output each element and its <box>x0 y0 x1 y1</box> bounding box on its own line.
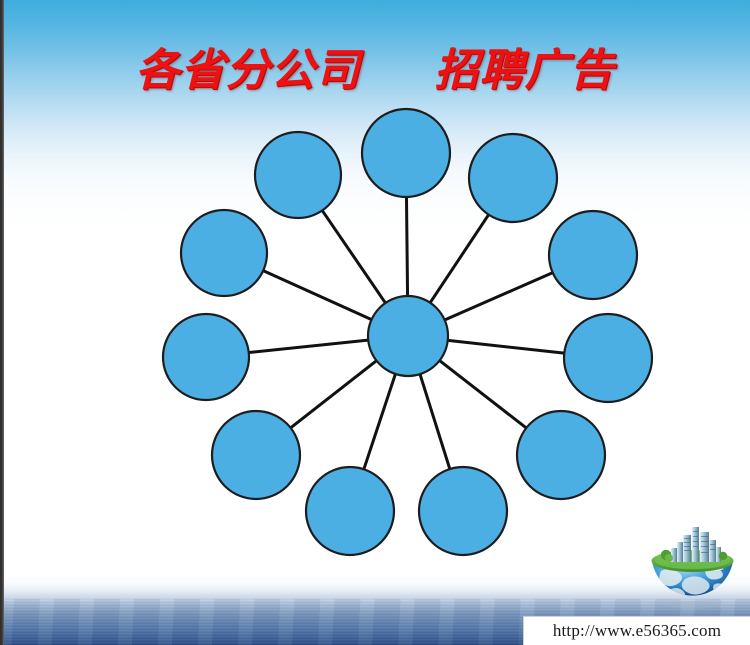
node-circle-8[interactable] <box>212 411 300 499</box>
page-title: 各省分公司招聘广告 <box>0 34 750 98</box>
spoke-line-n2 <box>322 210 386 304</box>
spoke-line-n9 <box>439 360 527 429</box>
node-circle-5[interactable] <box>549 211 637 299</box>
node-circle-6[interactable] <box>163 314 249 400</box>
hub-circle[interactable] <box>368 296 448 376</box>
node-circle-9[interactable] <box>517 411 605 499</box>
spoke-line-n1 <box>406 196 407 297</box>
globe-shadow <box>667 601 719 609</box>
spoke-line-n7 <box>447 340 565 353</box>
spoke-line-n4 <box>262 270 372 320</box>
title-right-text: 招聘广告 <box>435 34 615 98</box>
spoke-line-n11 <box>420 373 450 470</box>
node-circle-layer <box>163 109 652 555</box>
node-circle-7[interactable] <box>564 314 652 402</box>
earth-globe-city-logo <box>645 521 740 618</box>
node-circle-4[interactable] <box>181 210 267 296</box>
globe-city-buildings <box>671 527 721 562</box>
spoke-line-n10 <box>364 373 396 470</box>
spoke-line-n5 <box>444 272 554 320</box>
watermark-url-text: http://www.e56365.com <box>553 621 721 641</box>
node-circle-2[interactable] <box>255 132 341 218</box>
node-circle-1[interactable] <box>362 109 450 197</box>
node-circle-10[interactable] <box>306 467 394 555</box>
node-circle-3[interactable] <box>469 134 557 222</box>
slide-canvas: 各省分公司招聘广告 <box>0 0 750 645</box>
watermark-url-bar: http://www.e56365.com <box>523 616 750 645</box>
node-circle-11[interactable] <box>419 467 507 555</box>
title-left-text: 各省分公司 <box>136 34 361 98</box>
spoke-line-n3 <box>430 214 490 304</box>
slide-left-border <box>0 0 4 645</box>
spoke-line-n8 <box>290 360 377 428</box>
spoke-line-n6 <box>248 340 369 353</box>
